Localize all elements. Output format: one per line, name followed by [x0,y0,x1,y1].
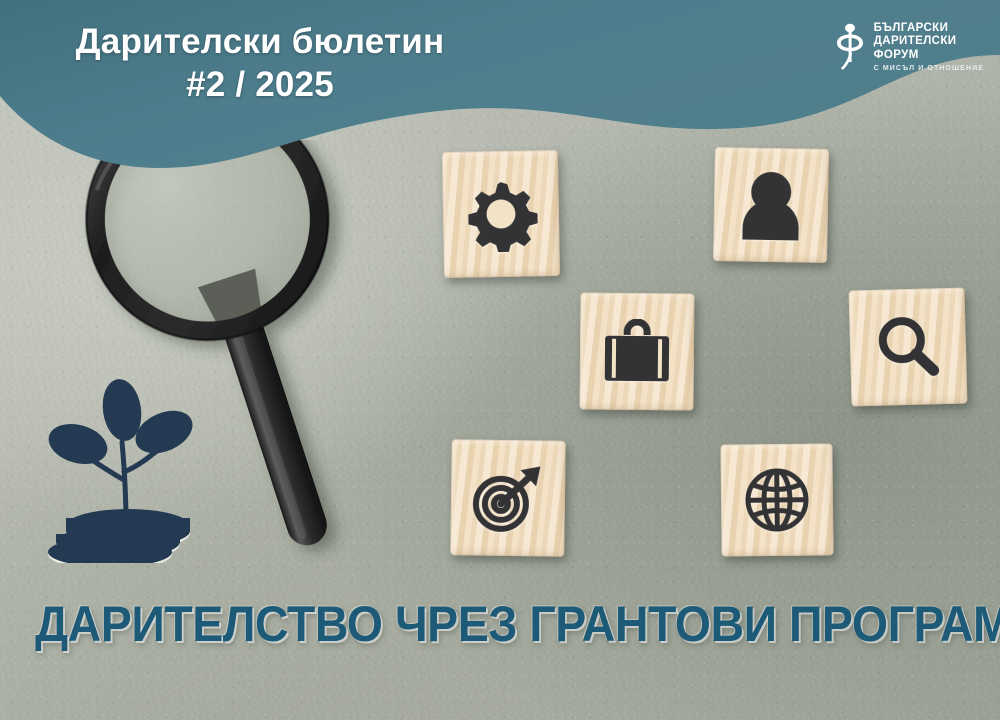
logo-wordmark: БЪЛГАРСКИ ДАРИТЕЛСКИ ФОРУМ С МИСЪЛ И ОТН… [874,22,984,72]
search-icon [849,288,968,407]
header-text-group: Дарителски бюлетин #2 / 2025 [0,22,520,104]
bdf-logo[interactable]: БЪЛГАРСКИ ДАРИТЕЛСКИ ФОРУМ С МИСЪЛ И ОТН… [831,22,984,72]
logo-tagline: С МИСЪЛ И ОТНОШЕНИЕ [874,65,984,72]
target-arrow-icon [450,439,566,557]
wood-block-search[interactable] [849,288,968,407]
issue-number: #2 / 2025 [0,65,520,104]
bdf-monogram-icon [831,22,867,72]
plant-growing-from-coins-icon [40,368,220,563]
wood-block-target[interactable] [450,439,566,557]
logo-line-3: ФОРУМ [874,49,984,62]
cover-headline: ДАРИТЕЛСТВО ЧРЕЗ ГРАНТОВИ ПРОГРАМИ [35,595,965,653]
briefcase-icon [579,293,694,411]
logo-line-1: БЪЛГАРСКИ [874,22,984,35]
globe-icon [720,443,833,556]
wood-block-globe[interactable] [720,443,833,556]
page-title: Дарителски бюлетин [0,22,520,61]
newsletter-cover-poster: Дарителски бюлетин #2 / 2025 БЪЛГАРСКИ Д… [0,0,1000,720]
wood-block-briefcase[interactable] [579,293,694,411]
logo-line-2: ДАРИТЕЛСКИ [874,35,984,48]
